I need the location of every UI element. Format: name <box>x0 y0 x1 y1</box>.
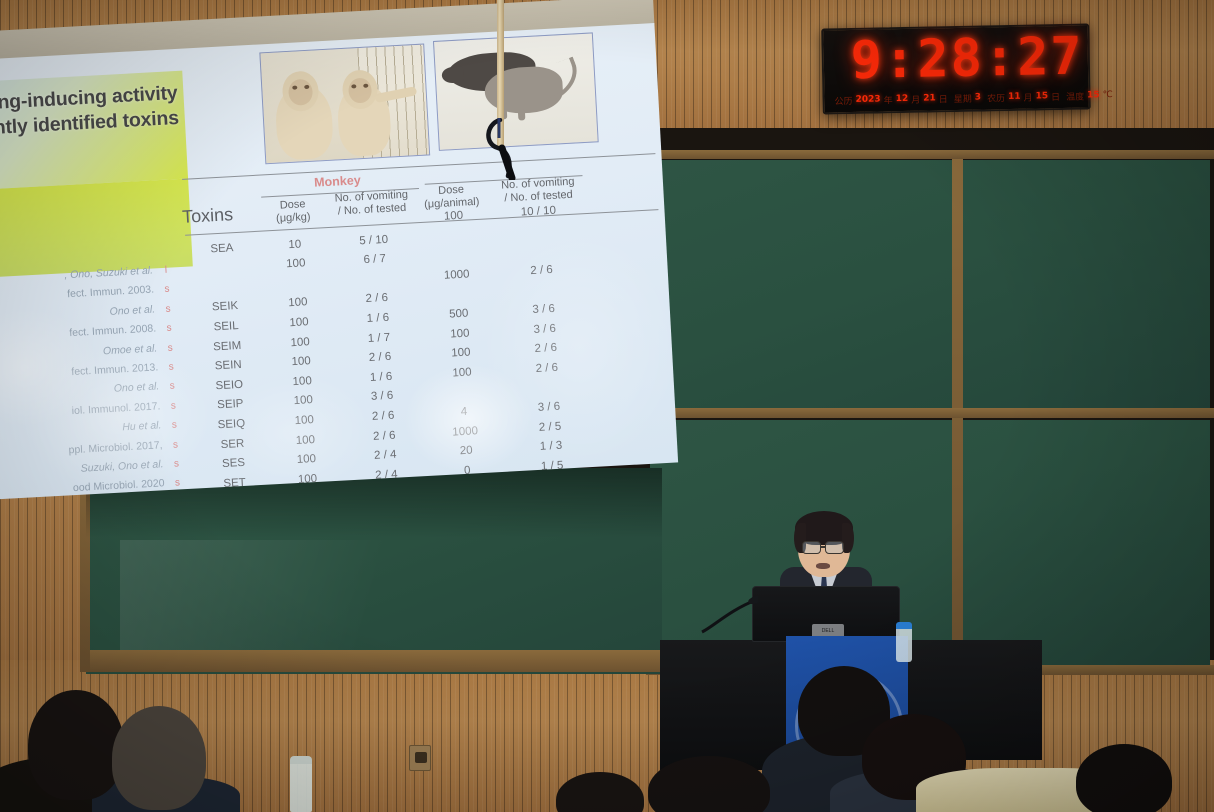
table-cell-monkey-dose: 100 <box>271 374 334 389</box>
clock-lunar-month: 11 <box>1008 92 1021 102</box>
citation-mark: s <box>161 380 184 401</box>
water-bottle-podium <box>896 622 912 662</box>
table-cell-monkey-dose: 100 <box>272 393 335 408</box>
stage-desk-left <box>660 640 788 770</box>
clock-month: 12 <box>896 94 909 104</box>
presentation-slide: ng-inducing activity cently identified t… <box>0 23 678 501</box>
table-cell-monkey-dose: 100 <box>269 335 332 350</box>
chalkboard-frame-horizontal-mid <box>646 408 1214 418</box>
pointer-stick-hook <box>478 118 524 180</box>
clock-temp-label: 温度 <box>1066 89 1084 102</box>
chalkboard-left-frame-bottom <box>80 650 668 672</box>
citation-mark: s <box>160 361 183 382</box>
wall-outlet <box>409 745 431 771</box>
monkey-photo <box>259 44 430 165</box>
clock-temp-value: 15 <box>1087 90 1100 100</box>
clock-year-unit: 年 <box>884 93 893 106</box>
clock-gregorian-label: 公历 <box>834 93 852 106</box>
audience-head <box>1076 744 1172 812</box>
citation-mark: s <box>158 322 181 343</box>
projection-screen: ng-inducing activity cently identified t… <box>0 0 678 501</box>
clock-weekday-value: 3 <box>975 93 981 103</box>
citation-mark: s <box>157 303 180 324</box>
audience-head <box>112 706 206 810</box>
clock-year: 2023 <box>855 94 880 104</box>
citation-mark: s <box>163 419 186 440</box>
citation-mark: s <box>165 458 188 479</box>
clock-weekday-label: 星期 <box>954 91 972 104</box>
table-cell-monkey-dose: 100 <box>275 452 338 467</box>
clock-date-row: 公历 2023 年 12 月 21 日 星期 3 农历 11 月 15 日 温度… <box>834 86 1086 111</box>
table-cell-monkey-dose: 100 <box>273 413 336 428</box>
chalkboard-frame-top <box>646 150 1214 159</box>
citation-mark: s <box>159 342 182 363</box>
citation-mark: l <box>155 264 178 285</box>
citation-list: , Ono, Suzuki et al.fect. Immun. 2003.On… <box>0 266 165 501</box>
speaker-mouth <box>816 563 830 569</box>
citation-mark: s <box>162 400 185 421</box>
clock-day: 21 <box>923 93 936 103</box>
table-cell-monkey-dose: 100 <box>268 315 331 330</box>
table-cell-monkey-dose: 10 <box>264 237 327 252</box>
citation-mark: s <box>164 438 187 459</box>
chalkboard-right-top <box>650 160 1210 410</box>
clock-month-unit: 月 <box>911 92 920 105</box>
clock-day-unit: 日 <box>939 92 948 105</box>
clock-lunar-month-unit: 月 <box>1023 90 1032 103</box>
table-cell-monkey-dose: 100 <box>267 295 330 310</box>
clock-time-display: 9:28:27 <box>837 28 1084 91</box>
clock-lunar-label: 农历 <box>987 91 1005 104</box>
table-cell-monkey-dose: 100 <box>274 432 337 447</box>
clock-lunar-day-unit: 日 <box>1051 90 1060 103</box>
speaker-glasses-right <box>825 541 844 554</box>
clock-lunar-day: 15 <box>1035 91 1048 101</box>
lecture-hall-photo: ng-inducing activity cently identified t… <box>0 0 1214 812</box>
slide-title-block: ng-inducing activity cently identified t… <box>0 71 188 193</box>
speaker-glasses-left <box>802 541 821 554</box>
speaker-glasses-bridge <box>821 546 826 548</box>
led-wall-clock: 9:28:27 公历 2023 年 12 月 21 日 星期 3 农历 11 月… <box>821 23 1091 114</box>
slide-title-text: ng-inducing activity cently identified t… <box>0 81 179 142</box>
microphone-arm <box>700 596 758 634</box>
table-cell-monkey-dose: 100 <box>265 256 328 271</box>
clock-temp-unit: ℃ <box>1103 90 1113 100</box>
table-cell-monkey-dose: 100 <box>270 354 333 369</box>
chalkboard-light-streak <box>120 540 540 650</box>
citation-mark: s <box>156 284 179 305</box>
audience-head <box>28 690 124 800</box>
water-bottle-audience <box>290 756 312 812</box>
